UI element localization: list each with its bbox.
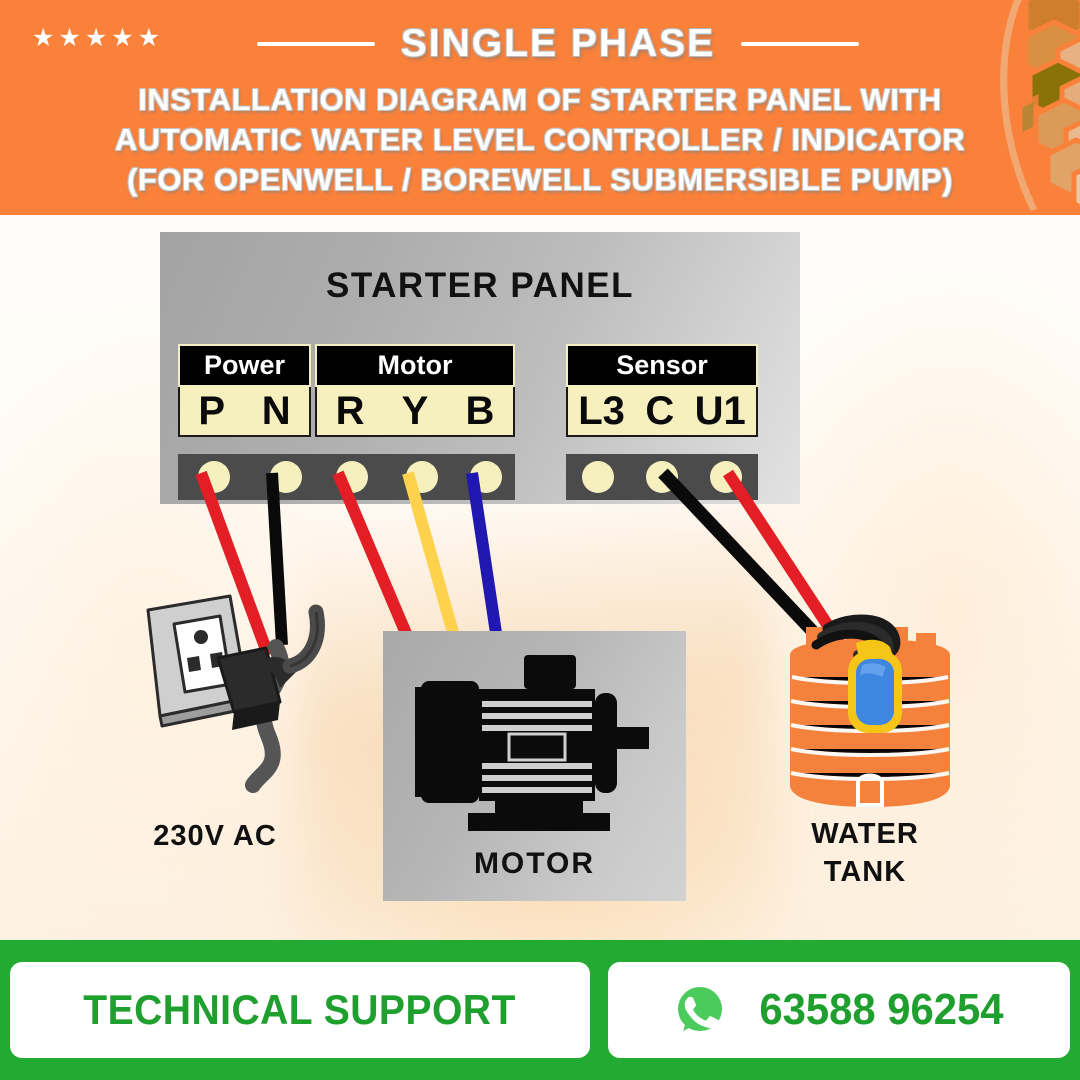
title-line-3: (FOR OPENWELL / BOREWELL SUBMERSIBLE PUM… <box>0 160 1080 200</box>
header-top-row: SINGLE PHASE <box>0 18 1080 70</box>
pin-y: Y <box>402 391 429 431</box>
diagram-canvas: STARTER PANEL Power P N Motor R Y B <box>0 215 1080 940</box>
whatsapp-contact-card[interactable]: 63588 96254 <box>608 962 1070 1058</box>
title-line-2: AUTOMATIC WATER LEVEL CONTROLLER / INDIC… <box>0 120 1080 160</box>
terminal-block-sensor-pins: L3 C U1 <box>566 387 758 437</box>
screw-b <box>470 461 502 493</box>
starter-panel-title: STARTER PANEL <box>160 266 800 306</box>
pin-r: R <box>336 391 365 431</box>
pin-c: C <box>645 391 674 431</box>
header-banner: ★★★★★ SINGLE PHASE INSTALLATION DIAGRAM … <box>0 0 1080 215</box>
terminal-block-sensor-label: Sensor <box>566 344 758 387</box>
socket-caption: 230V AC <box>90 817 340 855</box>
pin-p: P <box>198 391 225 431</box>
motor-illustration-box: MOTOR <box>383 631 686 901</box>
whatsapp-phone-number: 63588 96254 <box>759 985 1003 1035</box>
technical-support-card[interactable]: TECHNICAL SUPPORT <box>10 962 590 1058</box>
title-line-1: INSTALLATION DIAGRAM OF STARTER PANEL WI… <box>0 80 1080 120</box>
divider-right <box>741 42 859 46</box>
page-title: INSTALLATION DIAGRAM OF STARTER PANEL WI… <box>0 80 1080 200</box>
terminal-block-power: Power P N <box>178 344 311 437</box>
motor-label: MOTOR <box>383 847 686 881</box>
terminal-strip-left <box>178 454 515 500</box>
starter-panel: STARTER PANEL Power P N Motor R Y B <box>160 232 800 504</box>
power-socket-illustration <box>130 580 350 780</box>
terminal-block-sensor: Sensor L3 C U1 <box>566 344 758 437</box>
screw-l3 <box>582 461 614 493</box>
technical-support-label: TECHNICAL SUPPORT <box>84 986 517 1034</box>
screw-r <box>336 461 368 493</box>
divider-left <box>257 42 375 46</box>
terminal-block-power-pins: P N <box>178 387 311 437</box>
screw-u1 <box>710 461 742 493</box>
terminal-strip-right <box>566 454 758 500</box>
whatsapp-icon <box>669 979 731 1041</box>
tank-caption-line-1: WATER <box>755 815 975 853</box>
water-tank-illustration <box>770 613 970 823</box>
terminal-block-power-label: Power <box>178 344 311 387</box>
pin-u1: U1 <box>695 391 746 431</box>
tank-caption-line-2: TANK <box>755 853 975 891</box>
pin-n: N <box>262 391 291 431</box>
motor-icon <box>383 631 686 841</box>
screw-c <box>646 461 678 493</box>
terminal-block-motor: Motor R Y B <box>315 344 515 437</box>
screw-y <box>406 461 438 493</box>
screw-p <box>198 461 230 493</box>
terminal-block-motor-label: Motor <box>315 344 515 387</box>
poster-root: ★★★★★ SINGLE PHASE INSTALLATION DIAGRAM … <box>0 0 1080 1080</box>
screw-n <box>270 461 302 493</box>
footer-bar: TECHNICAL SUPPORT 63588 96254 <box>0 940 1080 1080</box>
terminal-block-motor-pins: R Y B <box>315 387 515 437</box>
badge-single-phase: SINGLE PHASE <box>401 22 715 66</box>
pin-b: B <box>466 391 495 431</box>
pin-l3: L3 <box>578 391 625 431</box>
tank-caption: WATER TANK <box>755 815 975 891</box>
